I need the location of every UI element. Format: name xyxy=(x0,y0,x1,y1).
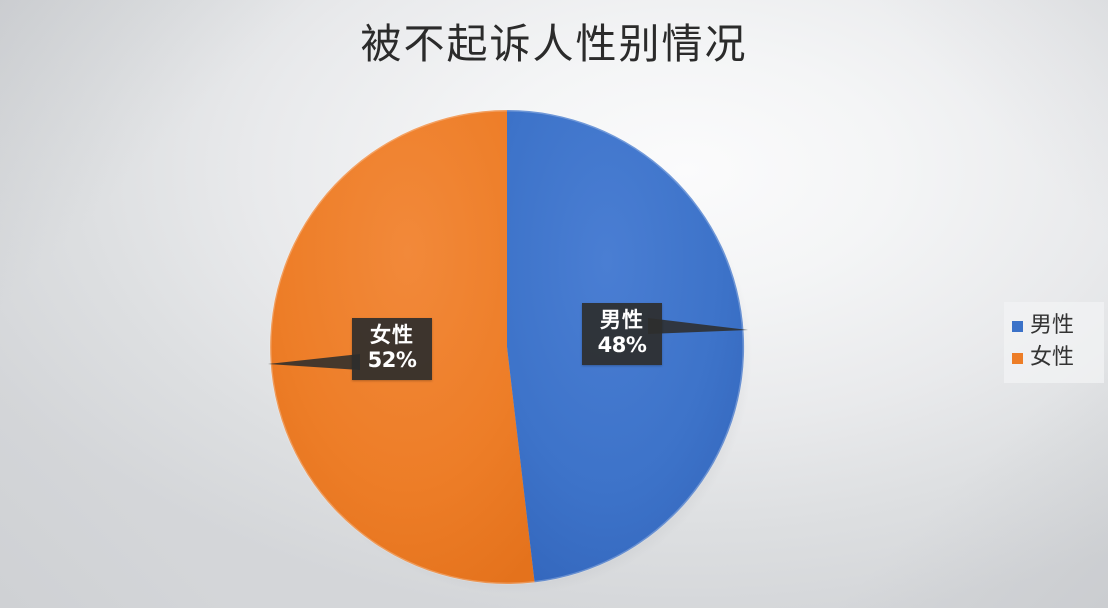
legend-label-female: 女性 xyxy=(1030,345,1074,371)
data-label-male-name: 男性 xyxy=(591,308,653,333)
page-title: 被不起诉人性别情况 xyxy=(0,16,1108,72)
data-label-male[interactable]: 男性 48% xyxy=(582,303,662,365)
data-label-female-value: 52% xyxy=(361,348,423,373)
legend-swatch-female-icon xyxy=(1012,353,1023,364)
data-label-female[interactable]: 女性 52% xyxy=(352,318,432,380)
leader-line-male xyxy=(648,316,748,342)
data-label-male-value: 48% xyxy=(591,333,653,358)
pie-chart xyxy=(268,108,746,586)
legend-label-male: 男性 xyxy=(1030,313,1074,339)
data-label-female-name: 女性 xyxy=(361,323,423,348)
slide-canvas: 被不起诉人性别情况 xyxy=(0,0,1108,608)
legend-item-female[interactable]: 女性 xyxy=(1012,342,1098,374)
chart-legend: 男性 女性 xyxy=(1004,302,1104,383)
legend-swatch-male-icon xyxy=(1012,321,1023,332)
leader-line-female xyxy=(268,350,360,374)
legend-item-male[interactable]: 男性 xyxy=(1012,310,1098,342)
